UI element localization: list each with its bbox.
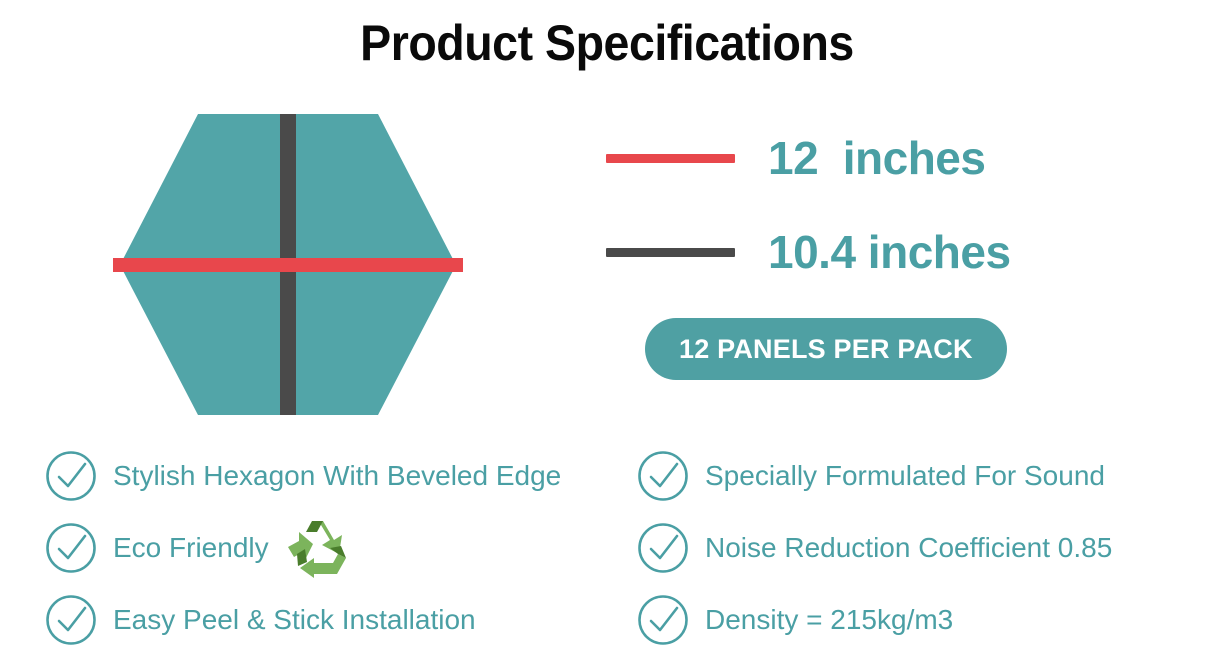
width-dimension-line xyxy=(113,258,463,272)
list-item: Eco Friendly xyxy=(45,512,625,584)
red-line-swatch xyxy=(606,154,735,163)
list-item: Stylish Hexagon With Beveled Edge xyxy=(45,440,625,512)
feature-label: Eco Friendly xyxy=(113,534,269,562)
feature-label: Easy Peel & Stick Installation xyxy=(113,606,476,634)
recycle-icon xyxy=(285,518,349,578)
feature-label: Density = 215kg/m3 xyxy=(705,606,953,634)
panels-per-pack-badge: 12 PANELS PER PACK xyxy=(645,318,1007,380)
gray-line-swatch xyxy=(606,248,735,257)
legend-label-height: 10.4 inches xyxy=(768,229,1011,275)
check-circle-icon xyxy=(637,594,689,646)
check-circle-icon xyxy=(45,522,97,574)
list-item: Noise Reduction Coefficient 0.85 xyxy=(637,512,1197,584)
hexagon-diagram xyxy=(108,108,468,426)
check-circle-icon xyxy=(45,450,97,502)
legend-row-width: 12 inches xyxy=(606,126,1076,190)
feature-label: Stylish Hexagon With Beveled Edge xyxy=(113,462,561,490)
check-circle-icon xyxy=(637,450,689,502)
list-item: Easy Peel & Stick Installation xyxy=(45,584,625,656)
feature-label: Noise Reduction Coefficient 0.85 xyxy=(705,534,1112,562)
list-item: Specially Formulated For Sound xyxy=(637,440,1197,512)
feature-column-left: Stylish Hexagon With Beveled Edge Eco Fr… xyxy=(45,440,625,656)
check-circle-icon xyxy=(45,594,97,646)
legend-row-height: 10.4 inches xyxy=(606,220,1076,284)
feature-list: Stylish Hexagon With Beveled Edge Eco Fr… xyxy=(0,440,1214,666)
legend-label-width: 12 inches xyxy=(768,135,985,181)
legend: 12 inches 10.4 inches xyxy=(606,126,1076,314)
feature-label: Specially Formulated For Sound xyxy=(705,462,1105,490)
feature-column-right: Specially Formulated For Sound Noise Red… xyxy=(637,440,1197,656)
page-title: Product Specifications xyxy=(42,14,1171,72)
check-circle-icon xyxy=(637,522,689,574)
hexagon-diagram-svg xyxy=(108,108,468,426)
list-item: Density = 215kg/m3 xyxy=(637,584,1197,656)
